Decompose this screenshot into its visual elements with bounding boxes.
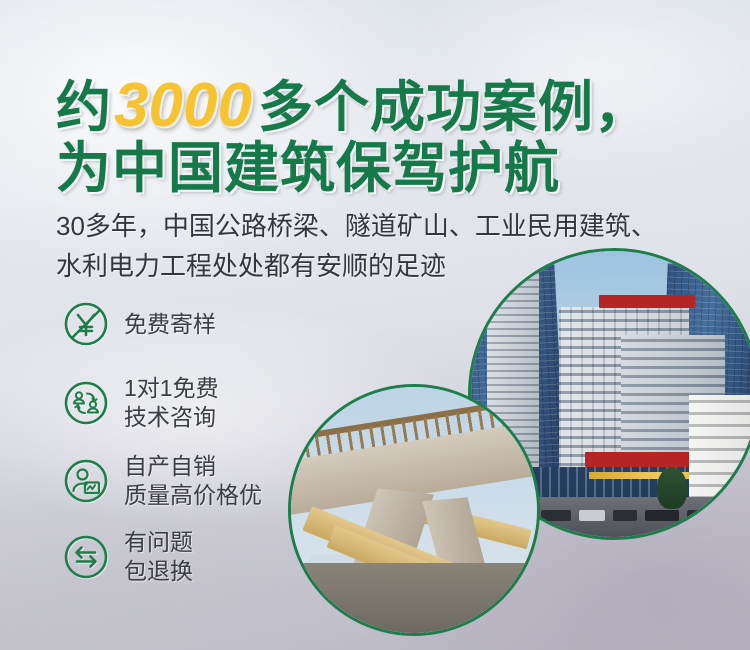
feature-item-return-exchange: 有问题 包退换 (62, 528, 262, 586)
feature-line: 1对1免费 (124, 374, 219, 403)
headline-line-1: 约3000多个成功案例， (56, 76, 726, 137)
subtitle: 30多年，中国公路桥梁、隧道矿山、工业民用建筑、 水利电力工程处处都有安顺的足迹 (56, 206, 746, 286)
feature-item-consultation: 1对1免费 技术咨询 (62, 374, 262, 432)
feature-line: 自产自销 (124, 452, 262, 481)
feature-label: 免费寄样 (124, 310, 216, 339)
feature-label: 有问题 包退换 (124, 528, 193, 586)
no-fee-yuan-icon (62, 300, 110, 348)
feature-line: 技术咨询 (124, 403, 219, 432)
bridge-photo (288, 384, 540, 636)
headline: 约3000多个成功案例， 为中国建筑保驾护航 (56, 76, 726, 198)
person-chart-icon (62, 457, 110, 505)
promo-banner: 约3000多个成功案例， 为中国建筑保驾护航 30多年，中国公路桥梁、隧道矿山、… (0, 0, 750, 650)
car (645, 510, 679, 521)
subtitle-line-2: 水利电力工程处处都有安顺的足迹 (56, 246, 746, 286)
subtitle-line-1: 30多年，中国公路桥梁、隧道矿山、工业民用建筑、 (56, 206, 746, 246)
car (613, 510, 637, 521)
feature-line: 有问题 (124, 528, 193, 557)
headline-number: 3000 (112, 71, 258, 140)
feature-item-self-production: 自产自销 质量高价格优 (62, 452, 262, 510)
feature-label: 1对1免费 技术咨询 (124, 374, 219, 432)
car (541, 510, 571, 521)
exchange-arrows-icon (62, 533, 110, 581)
roof-sign (599, 295, 695, 308)
bridge-ground (291, 563, 537, 633)
feature-line: 质量高价格优 (124, 481, 262, 510)
feature-list: 免费寄样 1对1免费 技术咨询 (62, 300, 262, 600)
feature-line: 包退换 (124, 557, 193, 586)
tree (657, 467, 687, 509)
car (687, 510, 711, 521)
feature-label: 自产自销 质量高价格优 (124, 452, 262, 510)
headline-prefix: 约 (56, 76, 112, 138)
headline-line-2: 为中国建筑保驾护航 (56, 139, 726, 198)
feature-item-free-sample: 免费寄样 (62, 300, 262, 348)
car (579, 510, 605, 521)
headline-suffix: 多个成功案例， (258, 76, 650, 138)
two-people-consult-icon (62, 379, 110, 427)
feature-line: 免费寄样 (124, 310, 216, 339)
